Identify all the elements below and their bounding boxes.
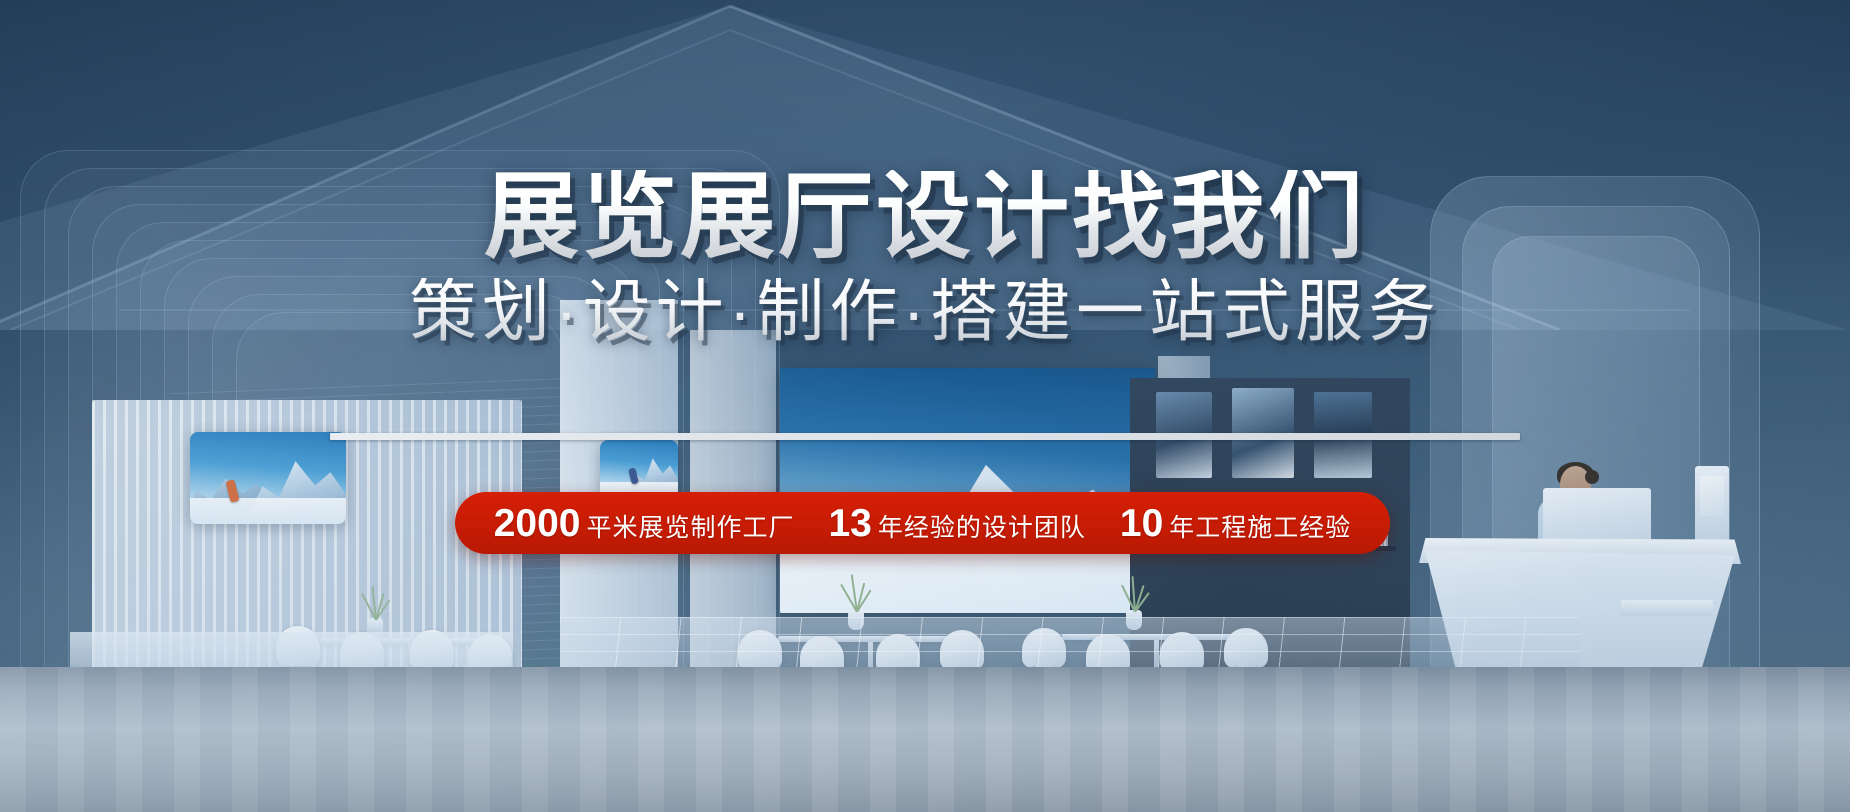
stat-item-2: 10 年工程施工经验	[1120, 504, 1351, 543]
stat-item-0: 2000 平米展览制作工厂	[494, 504, 795, 543]
divider-rule	[330, 433, 1520, 440]
page-title: 展览展厅设计找我们	[0, 170, 1850, 265]
stat-label: 年经验的设计团队	[878, 516, 1086, 541]
stat-number: 10	[1120, 504, 1163, 543]
stats-pill: 2000 平米展览制作工厂 13 年经验的设计团队 10 年工程施工经验	[455, 492, 1390, 554]
stat-number: 13	[828, 504, 871, 543]
stat-label: 平米展览制作工厂	[586, 516, 794, 541]
page-subtitle: 策划·设计·制作·搭建一站式服务	[0, 278, 1850, 346]
stat-number: 2000	[494, 504, 581, 543]
stat-item-1: 13 年经验的设计团队	[828, 504, 1085, 543]
stat-label: 年工程施工经验	[1169, 516, 1351, 541]
exhibition-hero-banner: 展览展厅设计找我们 策划·设计·制作·搭建一站式服务 2000 平米展览制作工厂…	[0, 0, 1850, 812]
banner-content: 展览展厅设计找我们 策划·设计·制作·搭建一站式服务 2000 平米展览制作工厂…	[0, 0, 1850, 812]
